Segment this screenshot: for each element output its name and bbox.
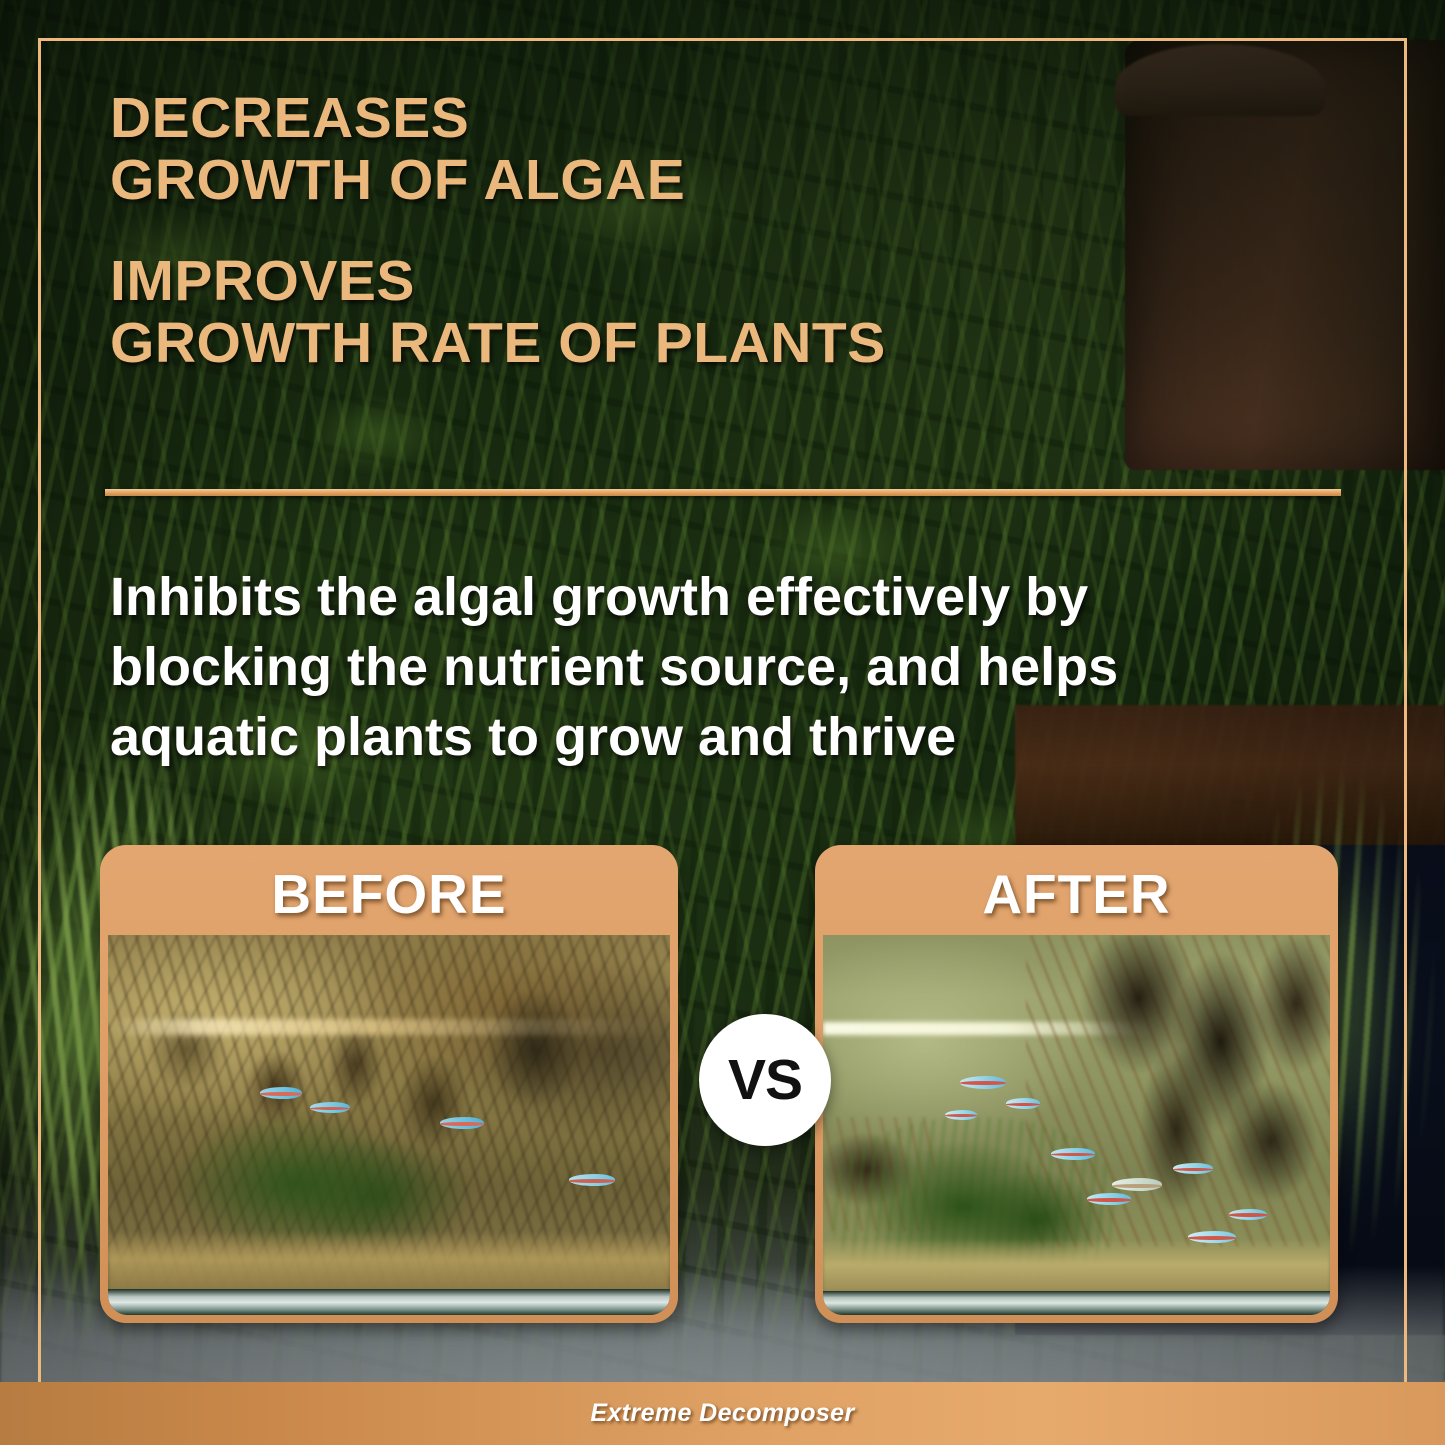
light-streak: [108, 1019, 670, 1035]
body-paragraph: Inhibits the algal growth effectively by…: [110, 562, 1310, 773]
panel-title-before: BEFORE: [100, 855, 678, 933]
footer-brand-bar: Extreme Decomposer: [0, 1382, 1445, 1445]
neon-tetra-fish: [945, 1110, 977, 1120]
aquarium-photo-after: [823, 935, 1330, 1315]
comparison-panel-after: AFTER: [815, 845, 1338, 1323]
aquarium-photo-before: [108, 935, 670, 1315]
panel-title-after: AFTER: [815, 855, 1338, 933]
neon-tetra-fish: [960, 1076, 1006, 1089]
tank-bottom-rim: [108, 1289, 670, 1315]
headline-decreases-algae: DECREASES GROWTH OF ALGAE: [110, 88, 1290, 211]
vs-badge: VS: [699, 1014, 831, 1146]
tank-substrate: [108, 1231, 670, 1292]
neon-tetra-fish: [1173, 1163, 1213, 1174]
comparison-panel-before: BEFORE: [100, 845, 678, 1323]
brand-name: Extreme Decomposer: [590, 1399, 854, 1428]
tank-bottom-rim: [823, 1291, 1330, 1315]
vs-label: VS: [728, 1052, 802, 1109]
neon-tetra-fish: [310, 1102, 350, 1113]
section-divider: [105, 489, 1341, 496]
murky-tank-render: [108, 935, 670, 1315]
headline-group: DECREASES GROWTH OF ALGAE IMPROVES GROWT…: [110, 88, 1290, 374]
neon-tetra-fish: [1229, 1209, 1267, 1220]
neon-tetra-fish: [1051, 1148, 1095, 1160]
sand-substrate: [823, 1239, 1330, 1292]
marketing-infographic: DECREASES GROWTH OF ALGAE IMPROVES GROWT…: [0, 0, 1445, 1445]
neon-tetra-fish: [1006, 1098, 1040, 1109]
headline-improves-plants: IMPROVES GROWTH RATE OF PLANTS: [110, 251, 1290, 374]
clear-tank-render: [823, 935, 1330, 1315]
neon-tetra-fish: [260, 1087, 302, 1099]
